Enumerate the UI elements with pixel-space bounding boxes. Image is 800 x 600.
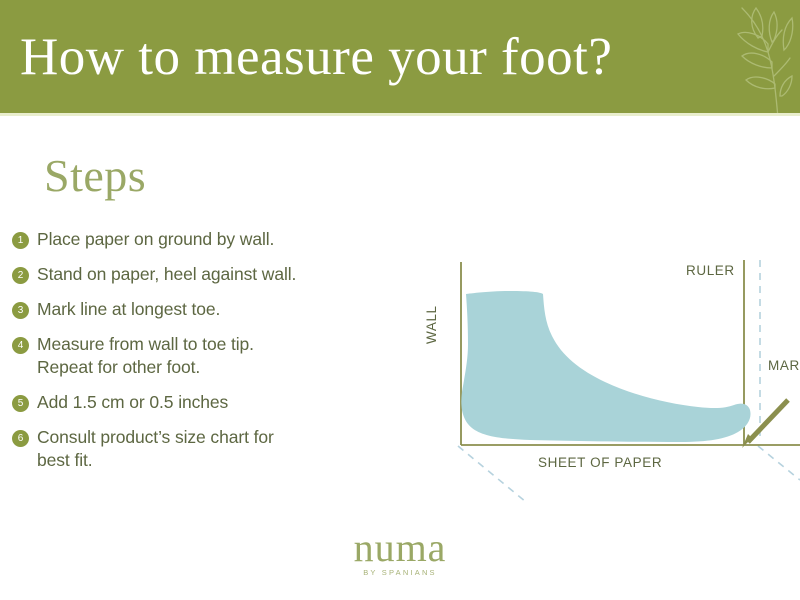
brand-logo: numa BY SPANIANS [0,526,800,578]
step-number-badge: 1 [12,232,29,249]
step-line-1: Mark line at longest toe. [37,299,220,319]
step-text: Consult product’s size chart for best fi… [37,426,432,472]
page-title: How to measure your foot? [20,26,612,88]
logo-name: numa [0,526,800,570]
list-item: 3 Mark line at longest toe. [12,298,432,321]
logo-tagline: BY SPANIANS [0,568,800,578]
step-text: Stand on paper, heel against wall. [37,263,432,286]
label-wall: WALL [424,305,439,344]
label-ruler: RULER [686,263,735,278]
pencil-icon [742,400,788,448]
step-number-badge: 4 [12,337,29,354]
step-line-1: Measure from wall to toe tip. [37,334,254,354]
step-line-1: Stand on paper, heel against wall. [37,264,296,284]
label-mark: MAR [768,358,800,373]
leaf-branch-icon [702,0,794,113]
header-band: How to measure your foot? [0,0,800,113]
step-number-badge: 3 [12,302,29,319]
steps-heading: Steps [44,150,146,202]
step-text: Mark line at longest toe. [37,298,432,321]
step-text: Place paper on ground by wall. [37,228,432,251]
step-line-1: Consult product’s size chart for [37,427,274,447]
list-item: 1 Place paper on ground by wall. [12,228,432,251]
step-line-1: Add 1.5 cm or 0.5 inches [37,392,228,412]
step-text: Add 1.5 cm or 0.5 inches [37,391,432,414]
step-line-2: Repeat for other foot. [37,356,432,379]
step-number-badge: 2 [12,267,29,284]
step-line-2: best fit. [37,449,432,472]
step-text: Measure from wall to toe tip. Repeat for… [37,333,432,379]
foot-measurement-diagram: WALL SHEET OF PAPER RULER MAR [430,252,800,502]
step-line-1: Place paper on ground by wall. [37,229,274,249]
step-number-badge: 5 [12,395,29,412]
list-item: 2 Stand on paper, heel against wall. [12,263,432,286]
list-item: 6 Consult product’s size chart for best … [12,426,432,472]
header-underline [0,113,800,116]
step-number-badge: 6 [12,430,29,447]
label-sheet-of-paper: SHEET OF PAPER [538,455,662,470]
list-item: 4 Measure from wall to toe tip. Repeat f… [12,333,432,379]
infographic-canvas: How to measure your foot? Steps 1 Place … [0,0,800,600]
list-item: 5 Add 1.5 cm or 0.5 inches [12,391,432,414]
steps-list: 1 Place paper on ground by wall. 2 Stand… [12,228,432,484]
foot-silhouette-icon [461,291,750,442]
